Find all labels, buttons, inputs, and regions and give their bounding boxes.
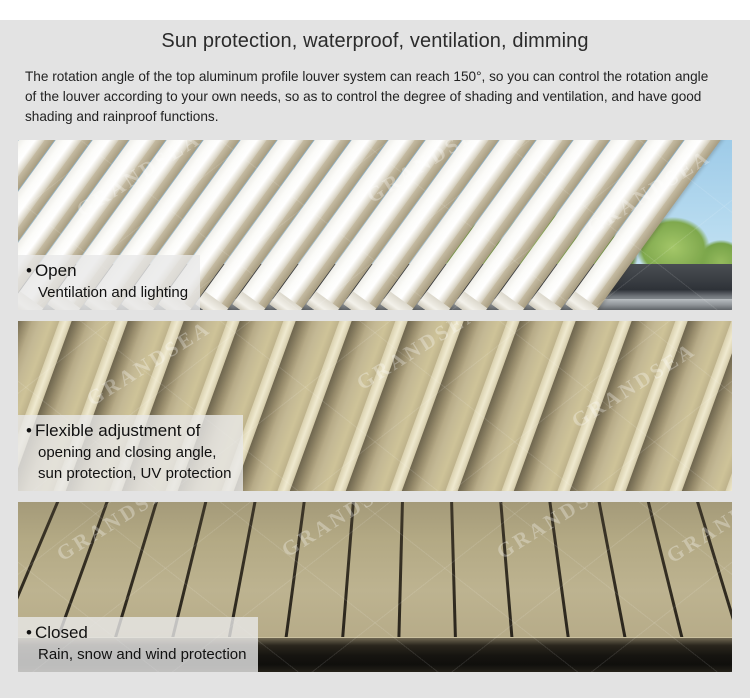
figure-louvers-open: GRANDSEA GRANDSEA GRANDSEA •Open Ventila… — [18, 140, 732, 310]
caption-title: Closed — [35, 623, 88, 642]
caption-closed: •Closed Rain, snow and wind protection — [18, 617, 258, 672]
top-white-strip — [0, 0, 750, 20]
caption-title: Open — [35, 261, 77, 280]
header-section: Sun protection, waterproof, ventilation,… — [0, 30, 750, 127]
product-detail-page: Sun protection, waterproof, ventilation,… — [0, 0, 750, 698]
bullet-icon: • — [26, 623, 35, 642]
caption-title-row: •Flexible adjustment of — [26, 420, 231, 442]
bullet-icon: • — [26, 261, 35, 280]
figure-louvers-closed: GRANDSEA GRANDSEA GRANDSEA GRANDSEA •Clo… — [18, 502, 732, 672]
caption-title-row: •Open — [26, 260, 188, 282]
caption-subtitle: Ventilation and lighting — [26, 282, 188, 303]
caption-partial: •Flexible adjustment of opening and clos… — [18, 415, 243, 491]
page-title: Sun protection, waterproof, ventilation,… — [18, 30, 732, 53]
caption-open: •Open Ventilation and lighting — [18, 255, 200, 310]
caption-title: Flexible adjustment of — [35, 421, 200, 440]
caption-line-3: sun protection, UV protection — [26, 463, 231, 484]
caption-subtitle: Rain, snow and wind protection — [26, 644, 246, 665]
bullet-icon: • — [26, 421, 35, 440]
figure-list: GRANDSEA GRANDSEA GRANDSEA •Open Ventila… — [0, 140, 750, 672]
intro-paragraph: The rotation angle of the top aluminum p… — [25, 67, 722, 127]
caption-title-row: •Closed — [26, 622, 246, 644]
figure-louvers-partial: GRANDSEA GRANDSEA GRANDSEA •Flexible adj… — [18, 321, 732, 491]
caption-line-2: opening and closing angle, — [26, 442, 231, 463]
